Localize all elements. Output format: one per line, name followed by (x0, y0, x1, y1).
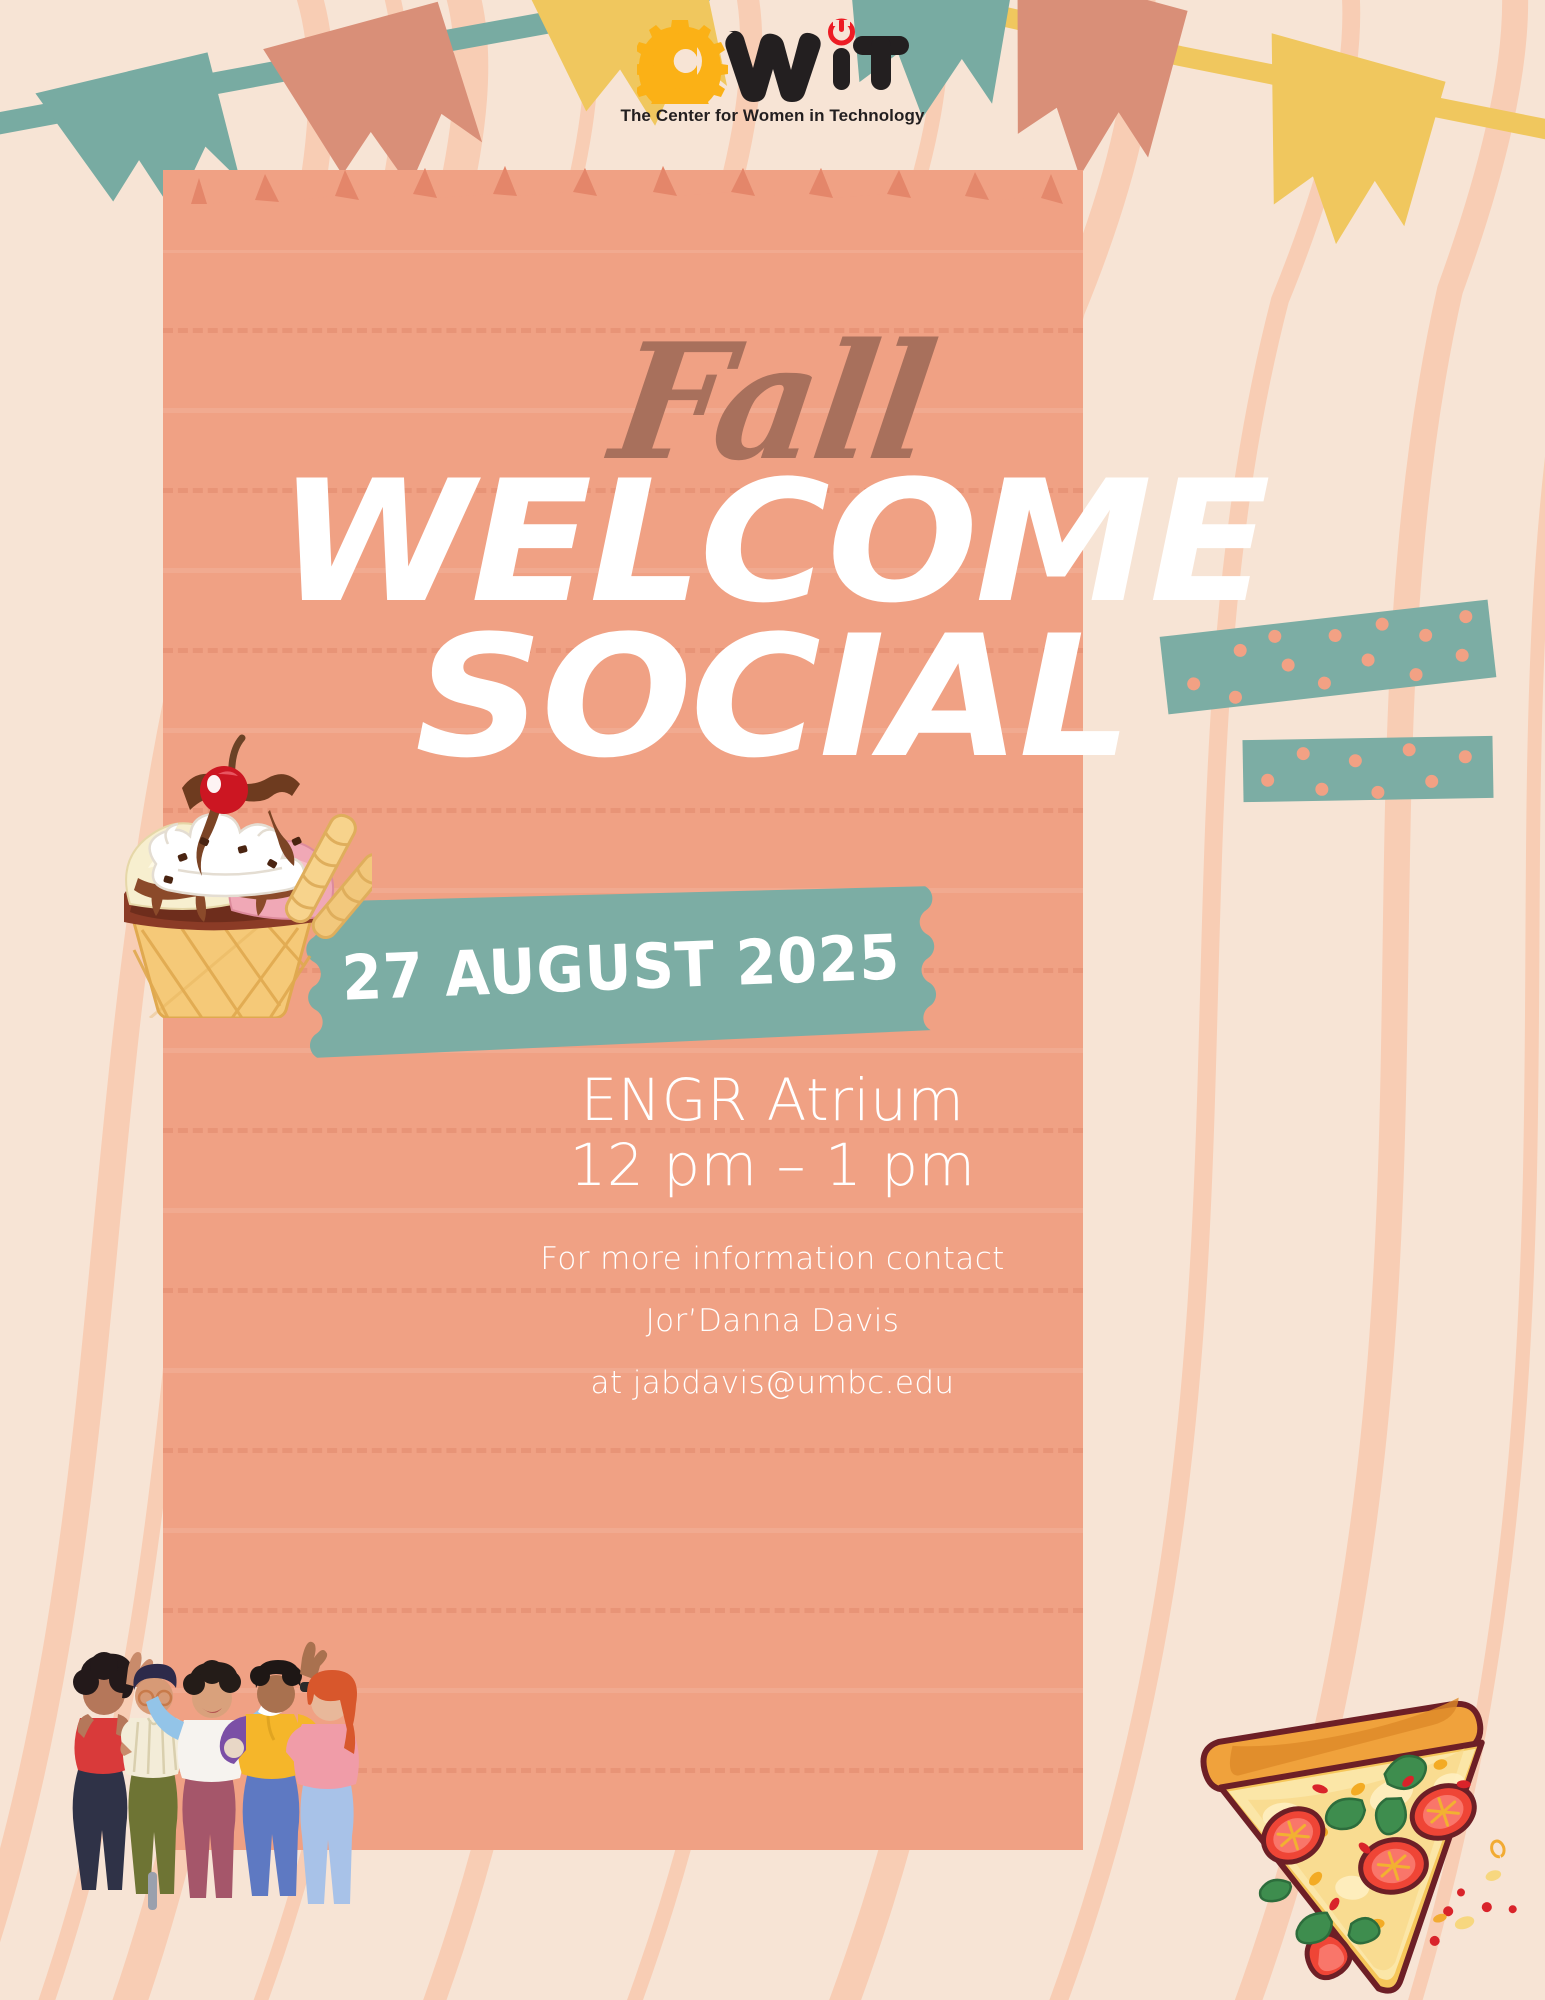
contact-line-3: at jabdavis@umbc.edu (0, 1352, 1545, 1414)
logo-letter-i (833, 48, 850, 90)
contact-block: For more information contact Jor’Danna D… (0, 1228, 1545, 1414)
time-text: 12 pm – 1 pm (0, 1133, 1545, 1198)
group-of-students-illustration (52, 1610, 362, 1910)
logo-letter-t (853, 36, 909, 90)
logo-letter-w (725, 31, 820, 102)
power-dot-icon (830, 19, 852, 43)
contact-line-1: For more information contact (0, 1228, 1545, 1290)
date-banner: 27 AUGUST 2025 (293, 868, 949, 1068)
ice-cream-sundae-illustration (72, 718, 372, 1018)
cwit-logomark (637, 18, 909, 104)
washi-tape-piece-2 (1242, 736, 1493, 802)
paper-torn-top-edge (163, 160, 1083, 250)
event-details: ENGR Atrium 12 pm – 1 pm (0, 1068, 1545, 1198)
contact-line-2: Jor’Danna Davis (0, 1290, 1545, 1352)
logo-tagline: The Center for Women in Technology (0, 106, 1545, 126)
poster-canvas: The Center for Women in Technology (0, 0, 1545, 2000)
date-banner-text: 27 AUGUST 2025 (316, 868, 927, 1066)
venue-text: ENGR Atrium (581, 1066, 965, 1134)
pizza-slice-illustration (1185, 1665, 1545, 2000)
cwit-logo: The Center for Women in Technology (0, 18, 1545, 126)
